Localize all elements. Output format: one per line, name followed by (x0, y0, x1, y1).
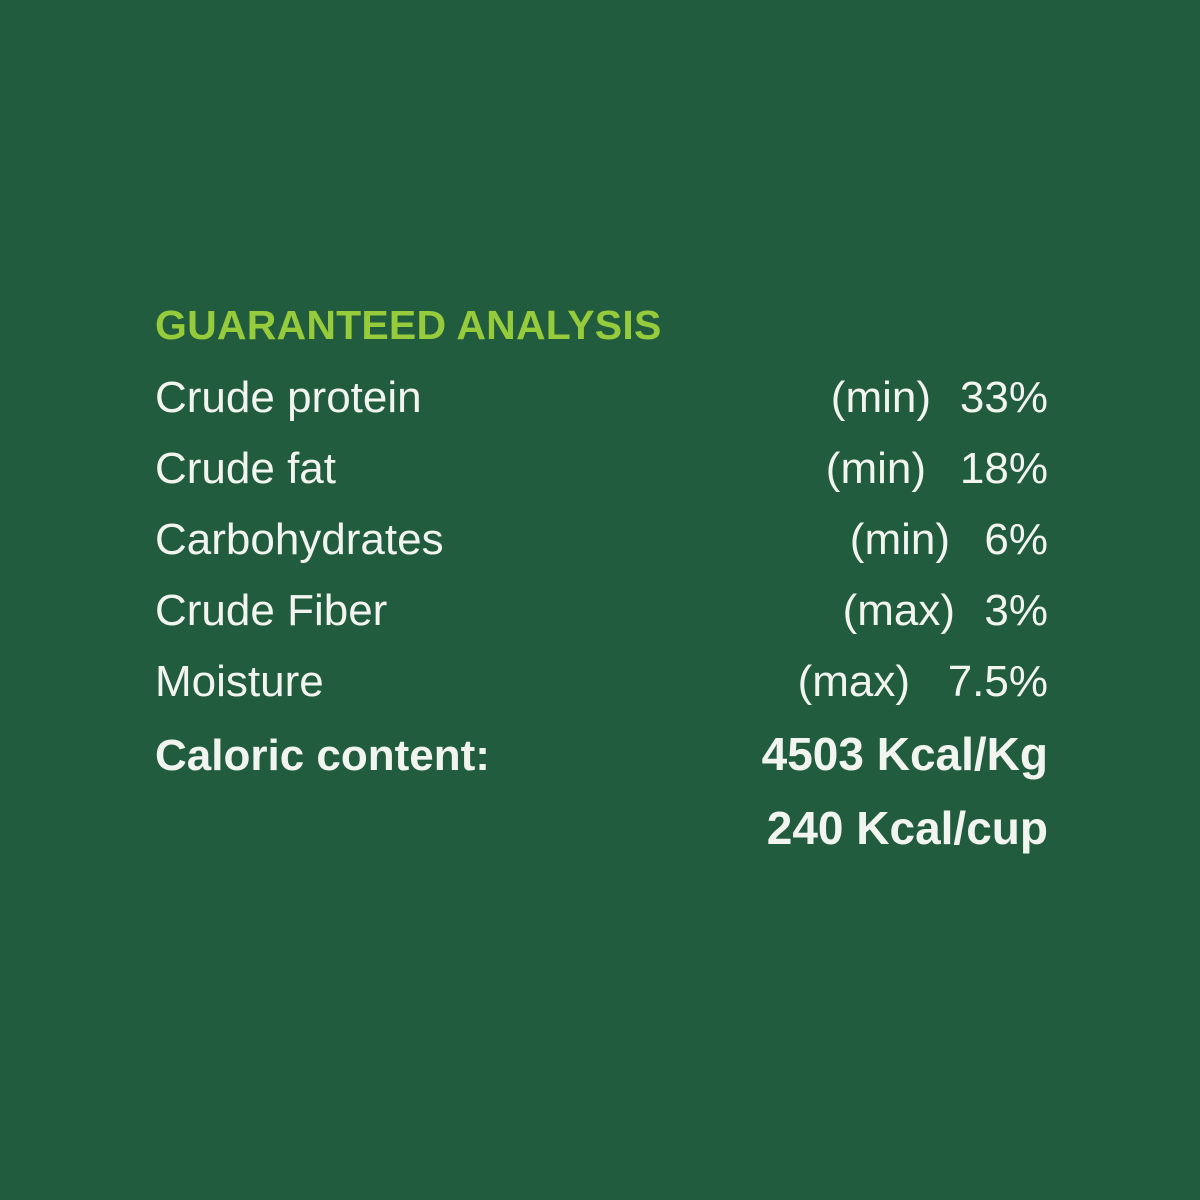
nutrient-qualifier: (max) (798, 646, 910, 717)
caloric-value-per-cup: 240 Kcal/cup (767, 791, 1048, 865)
nutrient-amount: 18% (944, 433, 1048, 504)
nutrient-table: Crude protein (min) 33% Crude fat (min) … (155, 362, 1048, 865)
caloric-value-group: 4503 Kcal/Kg (762, 717, 1048, 791)
nutrient-amount: 3% (968, 575, 1048, 646)
table-row: Carbohydrates (min) 6% (155, 504, 1048, 575)
nutrient-amount: 6% (968, 504, 1048, 575)
nutrient-value-group: (max) 7.5% (798, 646, 1048, 717)
caloric-content-row: Caloric content: 4503 Kcal/Kg (155, 717, 1048, 791)
nutrient-value-group: (max) 3% (843, 575, 1048, 646)
table-row: Moisture (max) 7.5% (155, 646, 1048, 717)
caloric-value-per-kg: 4503 Kcal/Kg (762, 717, 1048, 791)
nutrient-qualifier: (min) (831, 362, 931, 433)
nutrient-label: Crude Fiber (155, 575, 387, 646)
guaranteed-analysis-panel: GUARANTEED ANALYSIS Crude protein (min) … (155, 305, 1048, 865)
nutrient-amount: 7.5% (912, 646, 1048, 717)
nutrient-qualifier: (max) (843, 575, 955, 646)
caloric-content-row-secondary: 240 Kcal/cup (155, 791, 1048, 865)
nutrient-qualifier: (min) (850, 504, 950, 575)
nutrient-value-group: (min) 6% (850, 504, 1048, 575)
caloric-content-label: Caloric content: (155, 719, 490, 793)
table-row: Crude protein (min) 33% (155, 362, 1048, 433)
nutrient-label: Carbohydrates (155, 504, 444, 575)
nutrient-label: Crude protein (155, 362, 422, 433)
page-title: GUARANTEED ANALYSIS (155, 305, 1048, 346)
table-row: Crude Fiber (max) 3% (155, 575, 1048, 646)
nutrient-qualifier: (min) (826, 433, 926, 504)
nutrient-amount: 33% (944, 362, 1048, 433)
nutrient-label: Crude fat (155, 433, 336, 504)
table-row: Crude fat (min) 18% (155, 433, 1048, 504)
nutrient-value-group: (min) 33% (831, 362, 1048, 433)
nutrient-label: Moisture (155, 646, 324, 717)
nutrient-value-group: (min) 18% (826, 433, 1048, 504)
